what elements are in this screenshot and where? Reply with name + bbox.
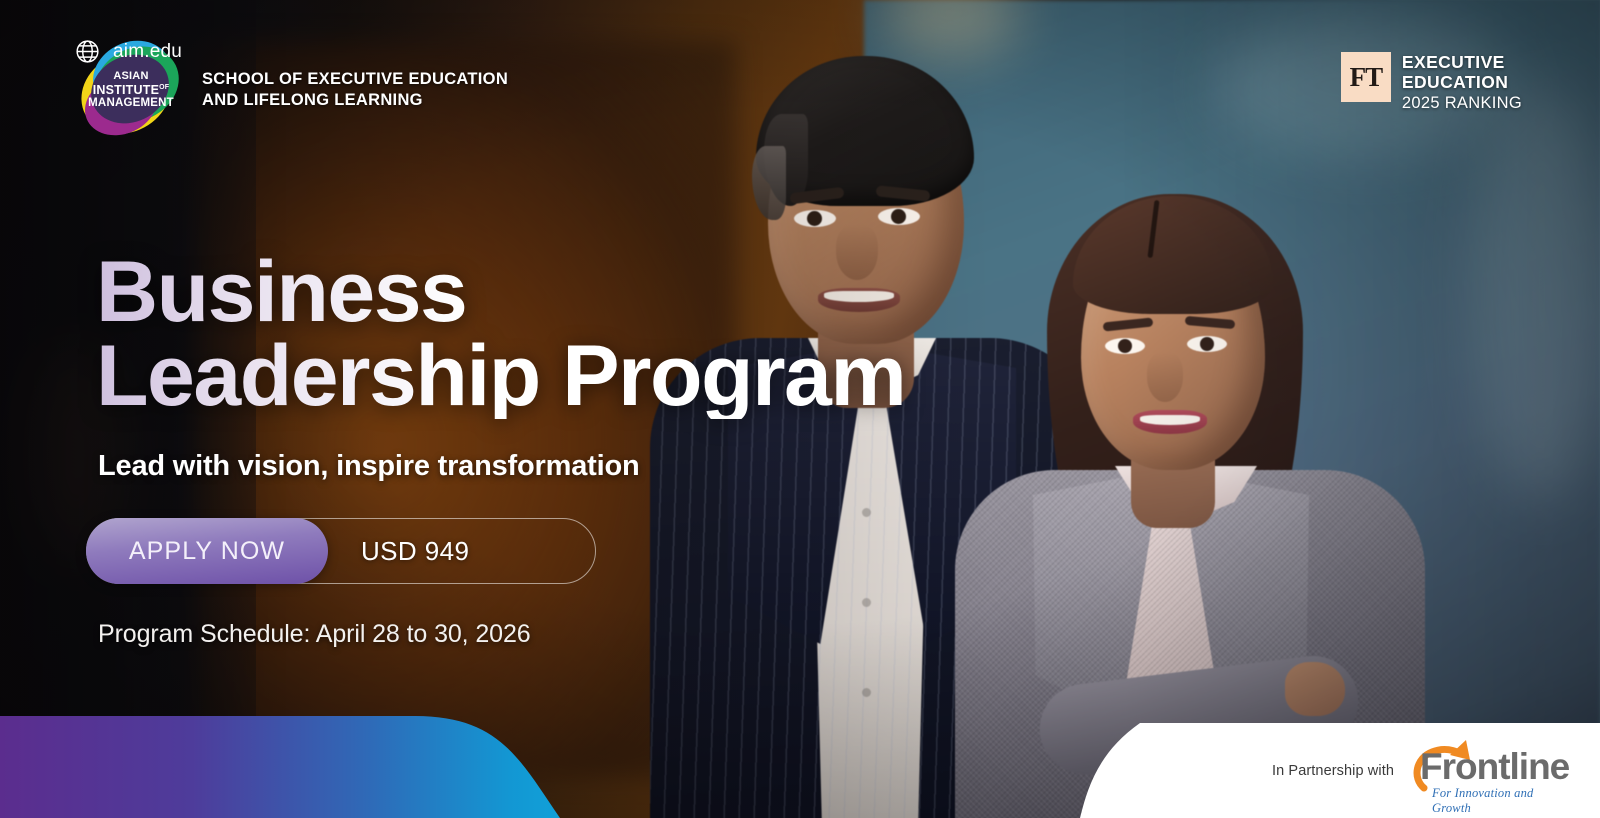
logo-line-management: MANAGEMENT <box>88 97 174 110</box>
title-line-1: Business <box>96 244 466 340</box>
program-schedule: Program Schedule: April 28 to 30, 2026 <box>98 620 531 649</box>
frontline-logo: Frontline For Innovation and Growth <box>1410 742 1570 800</box>
page-title: Business Leadership Program <box>96 250 976 419</box>
program-promo-banner: ASIAN INSTITUTEOF MANAGEMENT SCHOOL OF E… <box>0 0 1600 818</box>
website-url[interactable]: aim.edu <box>113 41 182 63</box>
cta-group: APPLY NOW USD 949 <box>86 518 596 584</box>
ft-ranking-badge: FT EXECUTIVE EDUCATION 2025 RANKING <box>1341 52 1522 113</box>
logo-line-institute: INSTITUTEOF <box>93 83 170 97</box>
frontline-wordmark: Frontline <box>1420 746 1569 788</box>
ft-logo-icon: FT <box>1341 52 1391 102</box>
globe-icon <box>74 38 101 65</box>
logo-wordmark: ASIAN INSTITUTEOF MANAGEMENT <box>90 64 172 116</box>
apply-now-button[interactable]: APPLY NOW <box>86 518 328 584</box>
partnership-panel: In Partnership with Frontline For Innova… <box>1080 723 1600 818</box>
website-link-group[interactable]: aim.edu <box>74 38 182 65</box>
ft-ranking-text: EXECUTIVE EDUCATION 2025 RANKING <box>1402 52 1522 113</box>
frontline-tagline: For Innovation and Growth <box>1432 786 1570 816</box>
logo-line-asian: ASIAN <box>113 70 148 82</box>
partnership-label: In Partnership with <box>1272 763 1394 779</box>
price-label: USD 949 <box>361 518 469 584</box>
ft-line-education: EDUCATION <box>1402 72 1522 92</box>
school-name-line1: SCHOOL OF EXECUTIVE EDUCATION <box>202 69 508 90</box>
subtitle: Lead with vision, inspire transformation <box>98 450 639 483</box>
ft-line-executive: EXECUTIVE <box>1402 52 1522 72</box>
school-name-line2: AND LIFELONG LEARNING <box>202 90 508 111</box>
title-line-2: Leadership Program <box>96 334 976 418</box>
school-name: SCHOOL OF EXECUTIVE EDUCATION AND LIFELO… <box>202 69 508 111</box>
ft-line-ranking-year: 2025 RANKING <box>1402 94 1522 113</box>
